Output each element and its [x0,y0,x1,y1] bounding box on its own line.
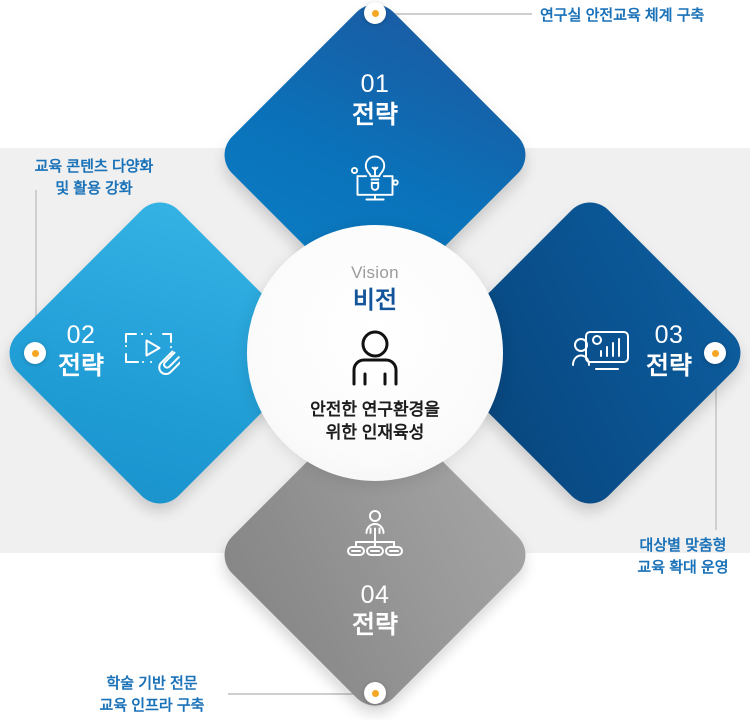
strategy-01-word: 전략 [352,99,398,133]
org-chart-icon [347,509,403,564]
strategy-04-number: 04 [361,582,390,610]
strategy-02-number: 02 [67,322,96,350]
diagram-canvas: 01 전략 [0,0,750,720]
strategy-03-number: 03 [655,322,684,350]
vision-circle: Vision 비전 안전한 연구환경을 위한 인재육성 [247,225,503,481]
vision-description: 안전한 연구환경을 위한 인재육성 [310,399,440,445]
connector-dot-left[interactable] [24,342,46,364]
strategy-02-word: 전략 [58,350,104,384]
connector-dot-right[interactable] [704,342,726,364]
connector-line-top [386,13,532,15]
strategy-04-word: 전략 [352,609,398,643]
person-icon [348,330,402,391]
strategy-03-label: 대상별 맞춤형 교육 확대 운영 [622,535,744,579]
vision-title: 비전 [353,285,397,317]
strategy-03-content: 03 전략 [476,239,704,467]
strategy-01-label: 연구실 안전교육 체계 구축 [540,5,704,27]
strategy-02-label: 교육 콘텐츠 다양화 및 활용 강화 [14,156,174,200]
strategy-04-label: 학술 기반 전문 교육 인프라 구축 [82,673,222,717]
vision-eyebrow: Vision [351,263,399,283]
strategy-01-number: 01 [361,71,390,99]
strategy-03-word: 전략 [646,350,692,384]
presenter-chart-icon [572,325,632,382]
lightbulb-monitor-icon [346,152,404,209]
strategy-02-content: 02 전략 [46,239,274,467]
connector-line-bottom [228,693,366,695]
connector-dot-bottom[interactable] [364,682,386,704]
video-attachment-icon [118,325,180,382]
connector-dot-top[interactable] [364,2,386,24]
